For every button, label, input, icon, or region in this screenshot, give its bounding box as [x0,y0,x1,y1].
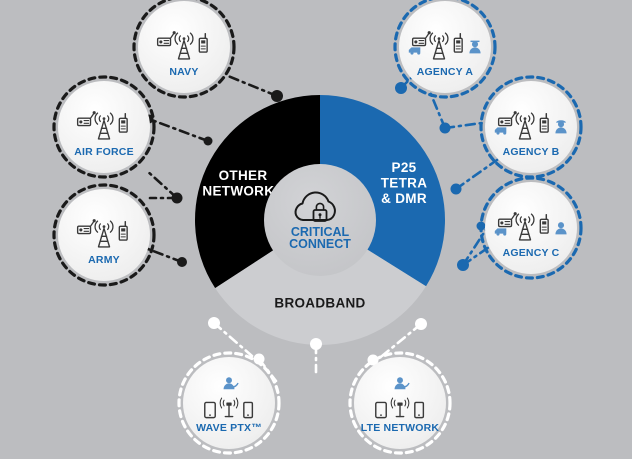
tower-beacon-icon [524,117,527,120]
node-circle-agency-b[interactable] [485,81,577,173]
node-label-wave-ptx: WAVE PTX™ [196,422,262,434]
dot-blue-1 [395,82,407,94]
node-label-agency-b: AGENCY B [503,146,560,158]
node-label-agency-a: AGENCY A [417,66,474,78]
dot-white-1 [208,317,220,329]
dot-black-1 [271,90,283,102]
segment-label-p25-tetra-dmr: TETRA [381,176,428,191]
segment-label-broadband: BROADBAND [274,296,365,311]
segment-label-p25-tetra-dmr: & DMR [381,191,427,206]
dot-blue-3 [451,184,462,195]
node-label-lte-network: LTE NETWORK [361,422,440,434]
node-circle-navy[interactable] [138,1,230,93]
tower-beacon-icon [438,37,441,40]
critical-connect-hub[interactable]: CRITICALCONNECT [264,164,376,276]
node-label-navy: NAVY [169,66,198,78]
tower-beacon-icon [183,37,186,40]
dot-white-2 [310,338,322,350]
dot-black-2 [204,137,213,146]
node-circle-army[interactable] [58,189,150,281]
dot-blue-4 [457,259,469,271]
node-label-agency-c: AGENCY C [503,247,560,259]
dot-black-4 [177,257,187,267]
node-circle-air-force[interactable] [58,81,150,173]
dot-blue-2 [440,123,451,134]
node-circle-agency-a[interactable] [399,1,491,93]
segment-label-p25-tetra-dmr: P25 [392,160,417,175]
tower-beacon-icon [103,117,106,120]
dot-white-3 [415,318,427,330]
node-circle-agency-c[interactable] [485,182,577,274]
critical-connect-ecosystem-diagram: OTHERNETWORKSP25TETRA& DMRBROADBAND NAVY… [0,0,632,459]
node-label-army: ARMY [88,254,120,266]
tower-beacon-icon [103,225,106,228]
segment-label-other-networks: OTHER [219,168,268,183]
diagram-canvas: OTHERNETWORKSP25TETRA& DMRBROADBAND NAVY… [0,0,632,459]
node-label-air-force: AIR FORCE [74,146,134,158]
hub-layer: CRITICALCONNECT [264,164,376,276]
dot-black-3 [172,193,183,204]
hub-title-line2: CONNECT [289,237,351,251]
tower-beacon-icon [524,218,527,221]
